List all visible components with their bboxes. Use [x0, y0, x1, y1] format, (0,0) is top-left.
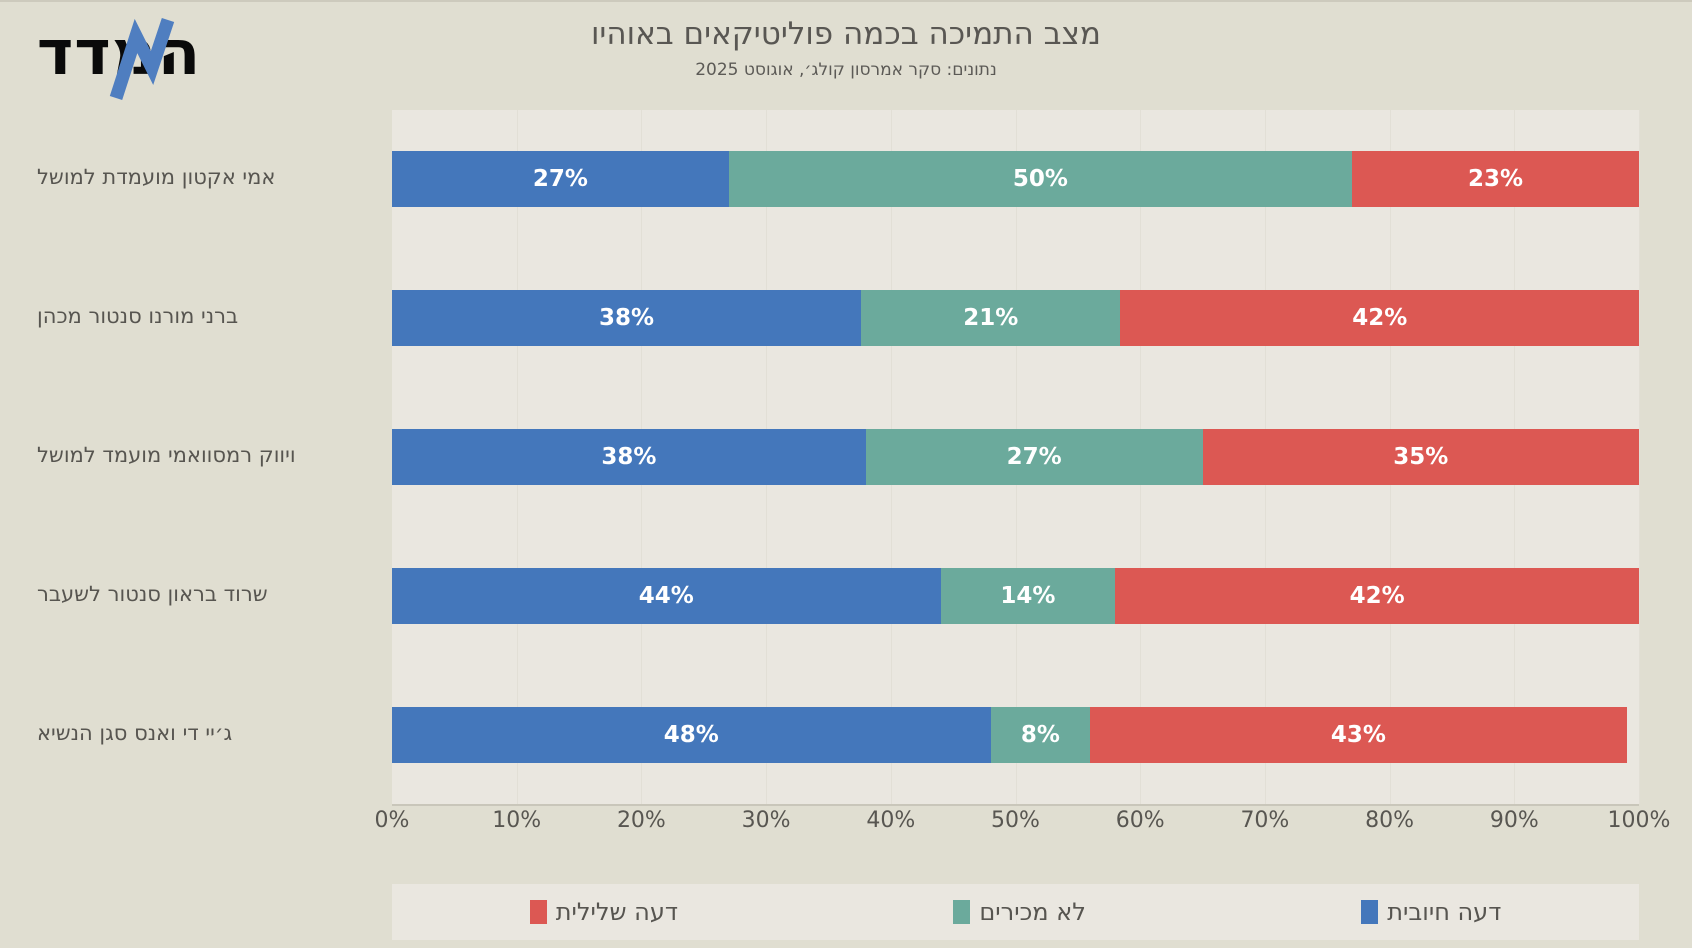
- bar-segment[interactable]: 8%: [991, 707, 1091, 763]
- category-label: שרוד בראון סנטור לשעבר: [37, 582, 367, 606]
- legend-label: לא מכירים: [979, 898, 1086, 926]
- bar-segment[interactable]: 38%: [392, 290, 861, 346]
- bar-segment[interactable]: 42%: [1120, 290, 1639, 346]
- x-axis-tick-label: 10%: [492, 808, 541, 833]
- bar-segment[interactable]: 50%: [729, 151, 1353, 207]
- bar-segment[interactable]: 21%: [861, 290, 1120, 346]
- top-divider: [0, 0, 1692, 2]
- category-label: ויווק רמסוואמי מועמד למושל: [37, 443, 367, 467]
- legend-label: דעה שלילית: [556, 898, 678, 926]
- bar-row[interactable]: 38%27%35%: [392, 429, 1639, 485]
- x-axis-tick-label: 30%: [742, 808, 791, 833]
- chart-page: המדד מצב התמיכה בכמה פוליטיקאים באוהיו נ…: [0, 0, 1692, 948]
- category-label: ג׳יי די ואנס סגן הנשיא: [37, 721, 367, 745]
- legend-item[interactable]: דעה חיובית: [1361, 898, 1501, 926]
- legend-label: דעה חיובית: [1387, 898, 1501, 926]
- bar-rows: 27%50%23%38%21%42%38%27%35%44%14%42%48%8…: [392, 110, 1639, 804]
- x-axis-tick-label: 20%: [617, 808, 666, 833]
- legend-swatch: [530, 900, 547, 924]
- bar-segment[interactable]: 27%: [392, 151, 729, 207]
- x-axis-tick-label: 40%: [866, 808, 915, 833]
- bar-segment[interactable]: 38%: [392, 429, 866, 485]
- chart-subtitle: נתונים: סקר אמרסון קולג׳, אוגוסט 2025: [0, 60, 1692, 80]
- plot-area: 27%50%23%38%21%42%38%27%35%44%14%42%48%8…: [392, 110, 1639, 804]
- x-axis-tick-label: 80%: [1365, 808, 1414, 833]
- x-axis-tick-label: 70%: [1240, 808, 1289, 833]
- category-label: אמי אקטון מועמדת למושל: [37, 165, 367, 189]
- legend-swatch: [1361, 900, 1378, 924]
- bar-segment[interactable]: 44%: [392, 568, 941, 624]
- legend-item[interactable]: דעה שלילית: [530, 898, 678, 926]
- chart-title: מצב התמיכה בכמה פוליטיקאים באוהיו: [0, 16, 1692, 52]
- bar-row[interactable]: 48%8%43%: [392, 707, 1639, 763]
- bar-segment[interactable]: 42%: [1115, 568, 1639, 624]
- chart-legend: דעה שליליתלא מכיריםדעה חיובית: [392, 884, 1639, 940]
- bar-segment[interactable]: 14%: [941, 568, 1116, 624]
- x-axis-tick-label: 0%: [375, 808, 410, 833]
- bar-segment[interactable]: 27%: [866, 429, 1203, 485]
- bar-row[interactable]: 44%14%42%: [392, 568, 1639, 624]
- bar-row[interactable]: 38%21%42%: [392, 290, 1639, 346]
- bar-segment[interactable]: 43%: [1090, 707, 1626, 763]
- gridline: [1639, 110, 1640, 804]
- x-axis-tick-label: 90%: [1490, 808, 1539, 833]
- bar-segment[interactable]: 23%: [1352, 151, 1639, 207]
- category-label: ברני מורנו סנטור מכהן: [37, 304, 367, 328]
- bar-segment[interactable]: 48%: [392, 707, 991, 763]
- bar-segment[interactable]: 35%: [1203, 429, 1639, 485]
- x-axis-tick-label: 60%: [1116, 808, 1165, 833]
- x-axis-tick-label: 100%: [1608, 808, 1671, 833]
- bar-row[interactable]: 27%50%23%: [392, 151, 1639, 207]
- x-axis-tick-label: 50%: [991, 808, 1040, 833]
- legend-swatch: [953, 900, 970, 924]
- legend-item[interactable]: לא מכירים: [953, 898, 1086, 926]
- x-axis-line: [392, 804, 1639, 806]
